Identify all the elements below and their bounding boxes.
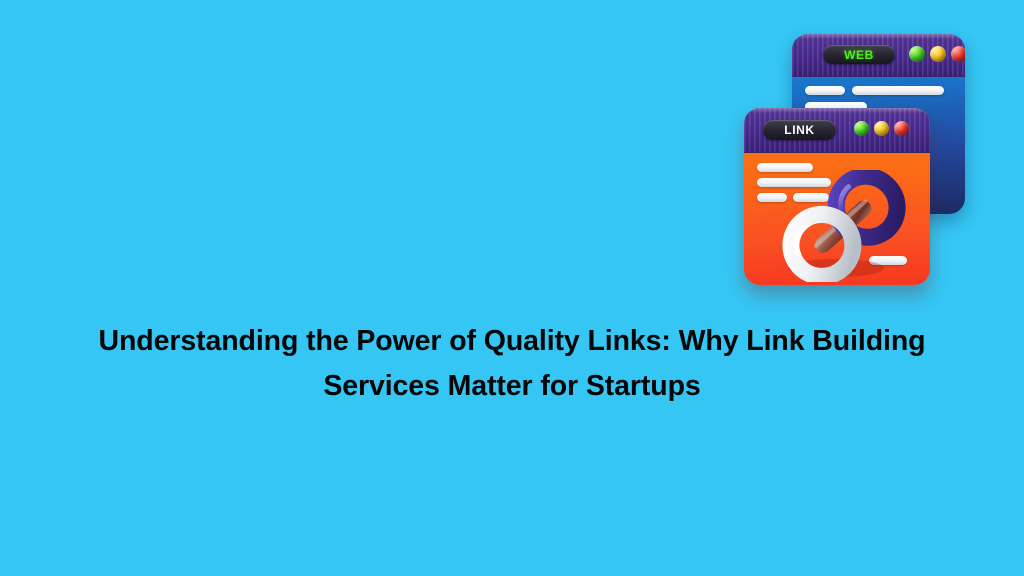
banner-canvas: WEB LINK [0, 0, 1024, 576]
web-traffic-light-dots [909, 46, 965, 62]
traffic-dot-yellow-icon [930, 46, 946, 62]
page-title-line-1: Understanding the Power of Quality Links… [30, 319, 994, 364]
traffic-dot-green-icon [854, 121, 869, 136]
content-bar [805, 86, 845, 95]
web-label-pill: WEB [823, 45, 895, 64]
traffic-dot-green-icon [909, 46, 925, 62]
traffic-dot-yellow-icon [874, 121, 889, 136]
link-label-pill: LINK [763, 120, 836, 140]
browser-window-link: LINK [744, 108, 930, 285]
page-title-line-2: Services Matter for Startups [30, 364, 994, 409]
page-title: Understanding the Power of Quality Links… [30, 319, 994, 409]
traffic-dot-red-icon [894, 121, 909, 136]
content-bar [852, 86, 944, 95]
hero-illustration: WEB LINK [730, 20, 990, 305]
link-traffic-light-dots [854, 121, 909, 136]
chain-link-icon [774, 170, 914, 282]
traffic-dot-red-icon [951, 46, 965, 62]
